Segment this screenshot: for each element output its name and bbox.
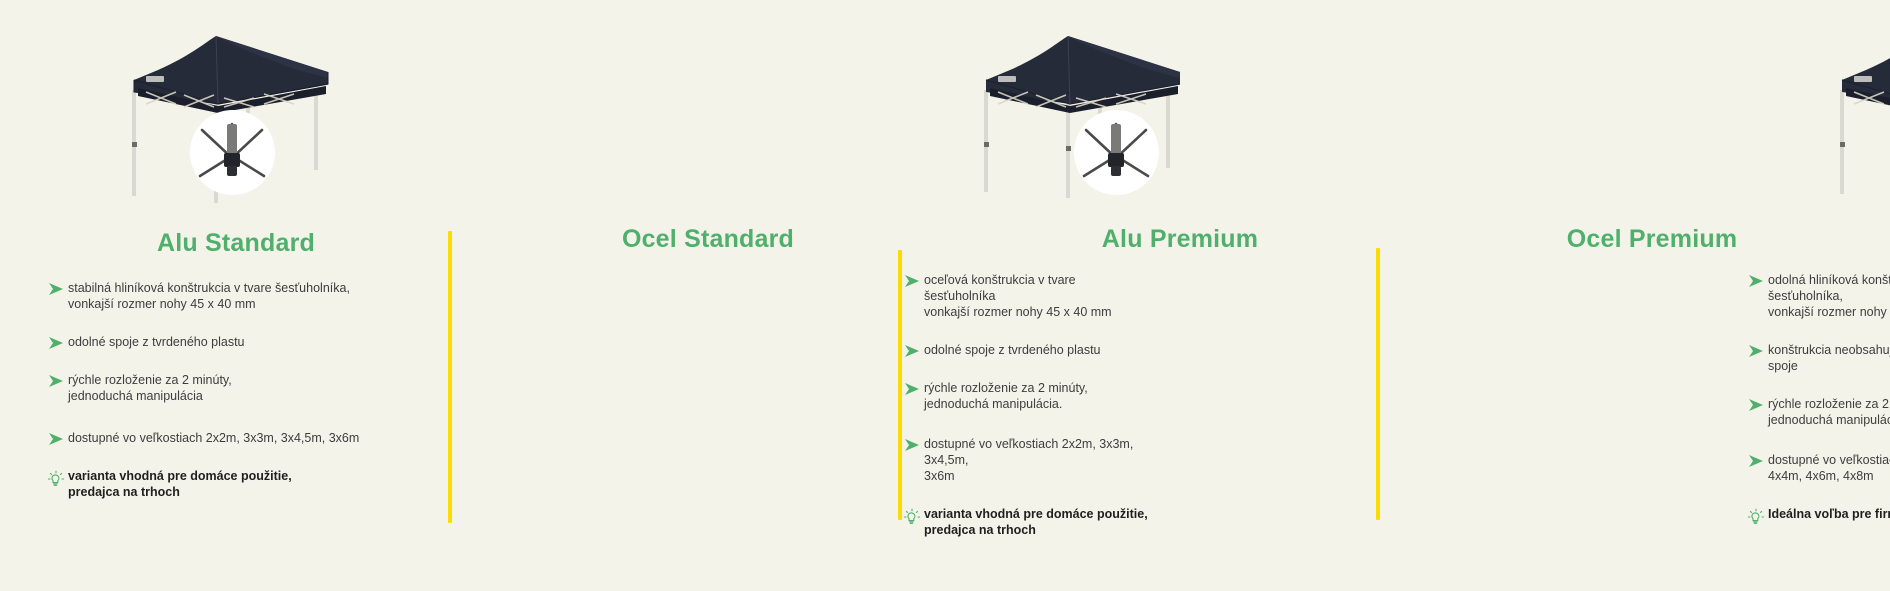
arrow-bullet-icon <box>900 342 924 358</box>
arrow-bullet-icon <box>44 372 68 388</box>
lightbulb-icon <box>44 468 68 488</box>
product-figure <box>1416 0 1888 218</box>
product-figure <box>0 0 472 218</box>
feature-text: stabilná hliníková konštrukcia v tvare š… <box>68 280 350 312</box>
feature-text: dostupné vo veľkostiach 2x2m, 3x3m, 3x4,… <box>68 430 359 446</box>
list-item: odolné spoje z tvrdeného plastu <box>44 334 374 350</box>
feature-list: stabilná hliníková konštrukcia v tvare š… <box>44 280 374 500</box>
page-title: Alu Premium <box>944 218 1416 254</box>
product-figure <box>472 0 944 218</box>
page-title: Ocel Premium <box>1416 218 1888 254</box>
lightbulb-icon <box>900 506 924 526</box>
list-item-highlight: varianta vhodná pre domáce použitie, pre… <box>44 468 374 500</box>
arrow-bullet-icon <box>900 272 924 288</box>
arrow-bullet-icon <box>44 430 68 446</box>
product-card-ocel-standard[interactable]: Ocel Standard oceľová konštrukcia v tvar… <box>472 0 944 591</box>
arrow-bullet-icon <box>44 334 68 350</box>
list-item: dostupné vo veľkostiach 2x2m, 3x3m, 3x4,… <box>44 430 374 446</box>
list-item: stabilná hliníková konštrukcia v tvare š… <box>44 280 374 312</box>
feature-text: odolné spoje z tvrdeného plastu <box>68 334 245 350</box>
frame-joint-closeup <box>190 110 275 195</box>
page-title: Ocel Standard <box>472 218 944 254</box>
product-comparison-section: Alu Standard stabilná hliníková konštruk… <box>0 0 1890 591</box>
arrow-bullet-icon <box>44 280 68 296</box>
arrow-bullet-icon <box>900 436 924 452</box>
feature-text: varianta vhodná pre domáce použitie, pre… <box>68 468 292 500</box>
list-item: rýchle rozloženie za 2 minúty, jednoduch… <box>44 372 374 404</box>
product-card-ocel-premium[interactable]: Ocel Premium oceľová konštrukcia v tvare… <box>1416 0 1888 591</box>
product-figure <box>944 0 1416 218</box>
page-title: Alu Standard <box>0 218 472 258</box>
feature-text: rýchle rozloženie za 2 minúty, jednoduch… <box>68 372 232 404</box>
arrow-bullet-icon <box>900 380 924 396</box>
product-card-alu-standard[interactable]: Alu Standard stabilná hliníková konštruk… <box>0 0 472 591</box>
product-card-alu-premium[interactable]: Alu Premium odolná hliníková konštrukcia… <box>944 0 1416 591</box>
